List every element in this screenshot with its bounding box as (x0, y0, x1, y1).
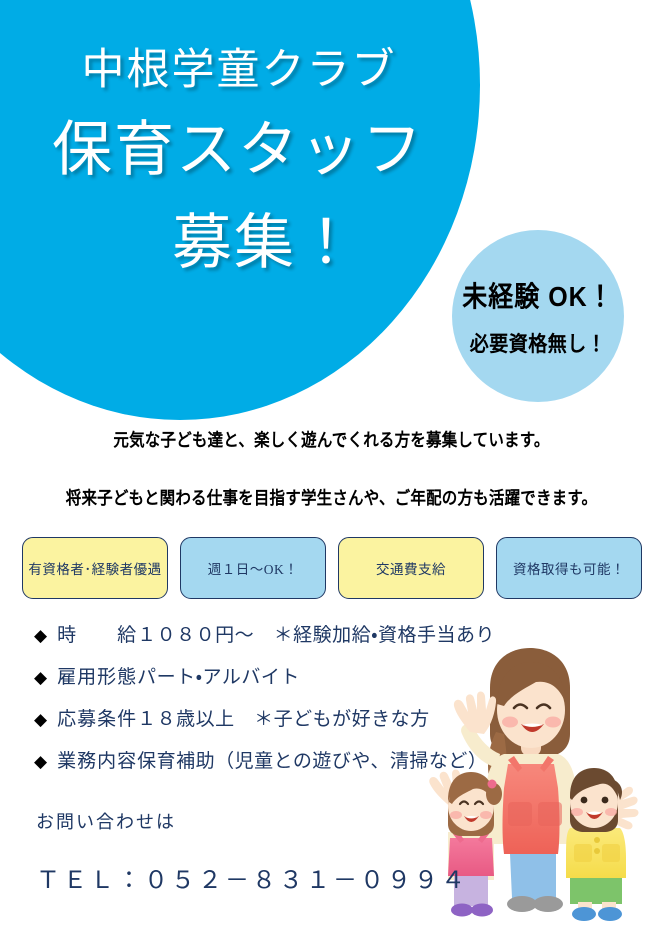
contact-lead-text: お問い合わせは (36, 808, 468, 834)
description-line-1: 元気な子ども達と、楽しく遊んでくれる方を募集しています。 (0, 426, 663, 451)
detail-label-job-content: 業務内容 (57, 746, 137, 773)
description-block: 元気な子ども達と、楽しく遊んでくれる方を募集しています。 将来子どもと関わる仕事… (0, 428, 663, 508)
contact-phone-number: ＴＥＬ：０５２－８３１－０９９４ (36, 860, 468, 895)
headline-role: 保育スタッフ (0, 119, 470, 182)
diamond-bullet-icon: ◆ (34, 668, 47, 688)
perk-badge-row: 有資格者･経験者優遇 週１日～OK！ 交通費支給 資格取得も可能！ (22, 537, 642, 599)
detail-label-employment-type: 雇用形態 (57, 662, 137, 689)
recruitment-flyer: 中根学童クラブ 保育スタッフ 募集！ 未経験 OK！ 必要資格無し！ 元気な子ど… (0, 0, 663, 935)
detail-label-requirements: 応募条件 (57, 704, 137, 731)
description-line-2: 将来子どもと関わる仕事を目指す学生さんや、ご年配の方も活躍できます。 (0, 484, 663, 509)
diamond-bullet-icon: ◆ (34, 752, 47, 772)
detail-row-wage: ◆ 時 給 １０８０円～ ＊経験加給・資格手当あり (34, 620, 495, 662)
detail-value-wage: １０８０円～ ＊経験加給・資格手当あり (137, 620, 495, 647)
detail-row-requirements: ◆ 応募条件 １８歳以上 ＊子どもが好きな方 (34, 704, 495, 746)
no-experience-badge: 未経験 OK！ 必要資格無し！ (452, 230, 624, 402)
perk-badge-qualified-preferred: 有資格者･経験者優遇 (22, 537, 168, 599)
diamond-bullet-icon: ◆ (34, 626, 47, 646)
perk-badge-once-a-week-ok: 週１日～OK！ (180, 537, 326, 599)
perk-badge-transport-paid: 交通費支給 (338, 537, 484, 599)
headline-call-to-action: 募集！ (0, 212, 470, 275)
headline-club-name: 中根学童クラブ (0, 48, 470, 93)
detail-row-employment-type: ◆ 雇用形態 パート・アルバイト (34, 662, 495, 704)
badge-no-experience-ok: 未経験 OK！ (462, 274, 613, 314)
detail-label-wage: 時 給 (57, 620, 137, 647)
perk-badge-certification-possible: 資格取得も可能！ (496, 537, 642, 599)
badge-no-qualification-needed: 必要資格無し！ (470, 327, 607, 357)
headline-block: 中根学童クラブ 保育スタッフ 募集！ (0, 0, 470, 275)
detail-row-job-content: ◆ 業務内容 保育補助（児童との遊びや、清掃など） (34, 746, 495, 788)
job-details-list: ◆ 時 給 １０８０円～ ＊経験加給・資格手当あり ◆ 雇用形態 パート・アルバ… (34, 620, 495, 788)
contact-block: お問い合わせは ＴＥＬ：０５２－８３１－０９９４ (36, 808, 468, 895)
diamond-bullet-icon: ◆ (34, 710, 47, 730)
detail-value-requirements: １８歳以上 ＊子どもが好きな方 (137, 704, 430, 731)
detail-value-job-content: 保育補助（児童との遊びや、清掃など） (137, 746, 487, 773)
detail-value-employment-type: パート・アルバイト (137, 662, 300, 689)
